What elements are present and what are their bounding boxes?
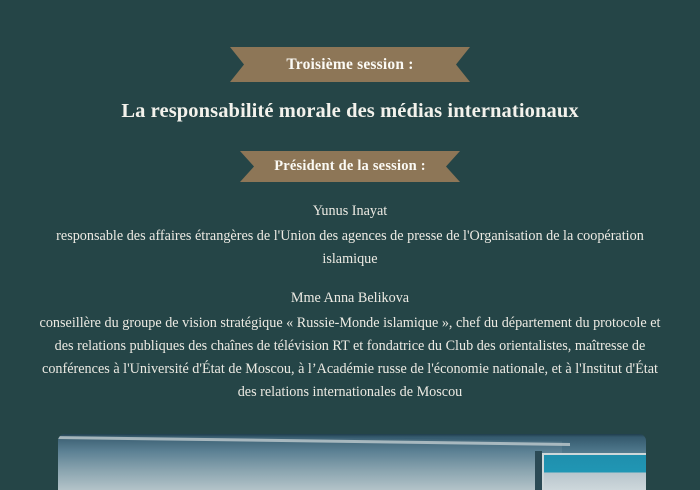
photo-top-shadow [58, 434, 646, 437]
chair-ribbon-banner: Président de la session : [254, 151, 446, 182]
presentation-slide: Troisième session : La responsabilité mo… [0, 0, 700, 490]
session-ribbon-banner: Troisième session : [244, 47, 456, 82]
speaker-name: Mme Anna Belikova [20, 287, 680, 310]
session-ribbon-label: Troisième session : [286, 56, 413, 74]
page-title: La responsabilité morale des médias inte… [121, 100, 578, 123]
conference-hall-screens-photo [58, 434, 646, 490]
speaker-entry: Mme Anna Belikova conseillère du groupe … [20, 287, 680, 404]
projection-screen-secondary [542, 453, 646, 490]
screen-divider-gap [535, 451, 542, 490]
speaker-role: conseillère du groupe de vision stratégi… [20, 312, 680, 404]
speaker-role: responsable des affaires étrangères de l… [20, 225, 680, 271]
speaker-name: Yunus Inayat [20, 200, 680, 223]
speaker-entry: Yunus Inayat responsable des affaires ét… [20, 200, 680, 271]
chair-ribbon-label: Président de la session : [274, 158, 426, 175]
